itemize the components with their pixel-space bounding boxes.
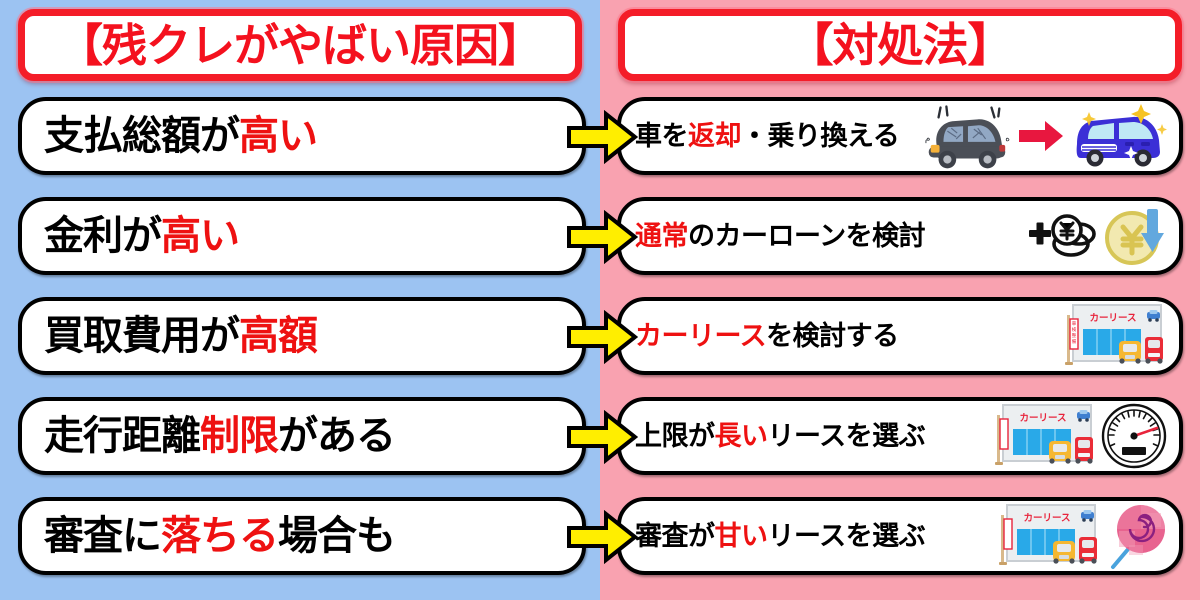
solution-row-5-icons: カーリース (997, 497, 1173, 575)
solution-row-4-text: 上限が長いリースを選ぶ (635, 423, 925, 450)
solution-row-5-plain-before: 審査が (635, 521, 715, 551)
cause-row-4-text: 走行距離制限がある (22, 416, 395, 456)
shop-sign-text: カーリース (1023, 513, 1070, 524)
lollipop-icon (1105, 501, 1167, 571)
new-car-icon (1067, 102, 1167, 170)
cause-row-2-highlight: 高い (161, 214, 239, 258)
cause-row-3-text: 買取費用が高額 (22, 316, 317, 356)
svg-text:車: 車 (1072, 320, 1077, 327)
car-lease-shop-icon: カーリース (993, 403, 1097, 469)
solution-row-1-highlight: 返却 (688, 121, 741, 151)
solution-row-3-icons: カーリース 車 検 整 備 (1063, 297, 1173, 375)
solution-row-5-plain-after: リースを選ぶ (768, 521, 926, 551)
cause-row-2-plain-before: 金利が (44, 214, 161, 258)
shop-red-car (1145, 337, 1163, 364)
cause-row-4: 走行距離制限がある (18, 397, 586, 475)
shop-yellow-car (1049, 441, 1071, 464)
solution-row-4: 上限が長いリースを選ぶ カーリース (617, 397, 1183, 475)
solution-row-2: 通常のカーローンを検討 (617, 197, 1183, 275)
yen-coin-down-arrow-icon (1103, 205, 1167, 267)
cause-row-3-plain-before: 買取費用が (44, 314, 239, 358)
shop-yellow-car (1119, 341, 1141, 364)
svg-text:ه: ه (1005, 133, 1010, 143)
solution-row-1-text: 車を返却・乗り換える (635, 123, 899, 150)
car-lease-shop-icon: カーリース (997, 503, 1101, 569)
cause-row-4-plain-after: がある (278, 414, 395, 458)
shop-sign-text: カーリース (1089, 313, 1136, 324)
cause-row-1: 支払総額が高い (18, 97, 586, 175)
cause-row-2-text: 金利が高い (22, 216, 239, 256)
solution-row-1-plain-before: 車を (635, 121, 688, 151)
solution-row-1-icons: مه (917, 97, 1173, 175)
shop-yellow-car (1053, 541, 1075, 564)
cause-row-5: 審査に落ちる場合も (18, 497, 586, 575)
cause-row-2: 金利が高い (18, 197, 586, 275)
solution-row-4-icons: カーリース (993, 397, 1173, 475)
cause-row-3-highlight: 高額 (239, 314, 317, 358)
cause-row-4-highlight: 制限 (200, 414, 278, 458)
solution-row-5-highlight: 甘い (715, 521, 768, 551)
svg-text:م: م (925, 133, 930, 144)
cause-row-5-highlight: 落ちる (161, 514, 278, 558)
cause-row-3: 買取費用が高額 (18, 297, 586, 375)
cause-row-5-plain-before: 審査に (44, 514, 161, 558)
solutions-header-text: 【対処法】 (788, 22, 1013, 68)
cause-row-5-text: 審査に落ちる場合も (22, 516, 395, 556)
old-car-icon: مه (917, 101, 1015, 171)
svg-text:検: 検 (1072, 326, 1077, 333)
cause-row-4-plain-before: 走行距離 (44, 414, 200, 458)
shop-sign-text: カーリース (1019, 413, 1066, 424)
solution-row-2-text: 通常のカーローンを検討 (635, 223, 925, 250)
speedometer-icon (1101, 403, 1167, 469)
shop-red-car (1079, 537, 1097, 564)
solution-row-2-plain-after: のカーローンを検討 (688, 221, 925, 251)
svg-text:備: 備 (1072, 338, 1077, 345)
causes-panel: 【残クレがやばい原因】 支払総額が高い 金利が高い 買取費用が高額 走行距離制限… (0, 0, 600, 600)
solution-row-4-highlight: 長い (715, 421, 768, 451)
yellow-right-arrow-icon-5 (566, 510, 638, 564)
cause-row-5-plain-after: 場合も (278, 514, 395, 558)
solution-row-3-text: カーリースを検討する (635, 323, 899, 350)
infographic-root: 【残クレがやばい原因】 支払総額が高い 金利が高い 買取費用が高額 走行距離制限… (0, 0, 1200, 600)
solution-row-1: 車を返却・乗り換える (617, 97, 1183, 175)
solution-row-5: 審査が甘いリースを選ぶ カーリース (617, 497, 1183, 575)
yellow-right-arrow-icon-4 (566, 410, 638, 464)
yellow-right-arrow-icon-2 (566, 210, 638, 264)
cause-row-1-text: 支払総額が高い (22, 116, 317, 156)
shop-red-car (1075, 437, 1093, 464)
solution-row-4-plain-after: リースを選ぶ (768, 421, 926, 451)
solution-row-3-plain-after: を検討する (766, 321, 899, 351)
red-arrow-icon (1019, 119, 1063, 153)
causes-header: 【残クレがやばい原因】 (18, 9, 582, 81)
yellow-right-arrow-icon-1 (566, 110, 638, 164)
solution-row-4-plain-before: 上限が (635, 421, 715, 451)
car-lease-shop-icon: カーリース 車 検 整 備 (1063, 303, 1167, 369)
solution-row-2-icons (1027, 197, 1173, 275)
causes-header-text: 【残クレがやばい原因】 (58, 23, 542, 68)
solution-row-5-text: 審査が甘いリースを選ぶ (635, 523, 925, 550)
svg-text:整: 整 (1072, 332, 1077, 338)
cause-row-1-highlight: 高い (239, 114, 317, 158)
yellow-right-arrow-icon-3 (566, 310, 638, 364)
solution-row-1-plain-after: ・乗り換える (741, 121, 899, 151)
plus-coins-yen-icon (1027, 208, 1099, 264)
solutions-panel: 【対処法】 車を返却・乗り換える (600, 0, 1200, 600)
cause-row-1-plain-before: 支払総額が (44, 114, 239, 158)
solution-row-3: カーリースを検討する カーリース (617, 297, 1183, 375)
solutions-header: 【対処法】 (618, 9, 1182, 81)
solution-row-3-highlight: カーリース (635, 321, 766, 351)
solution-row-2-highlight: 通常 (635, 221, 688, 251)
